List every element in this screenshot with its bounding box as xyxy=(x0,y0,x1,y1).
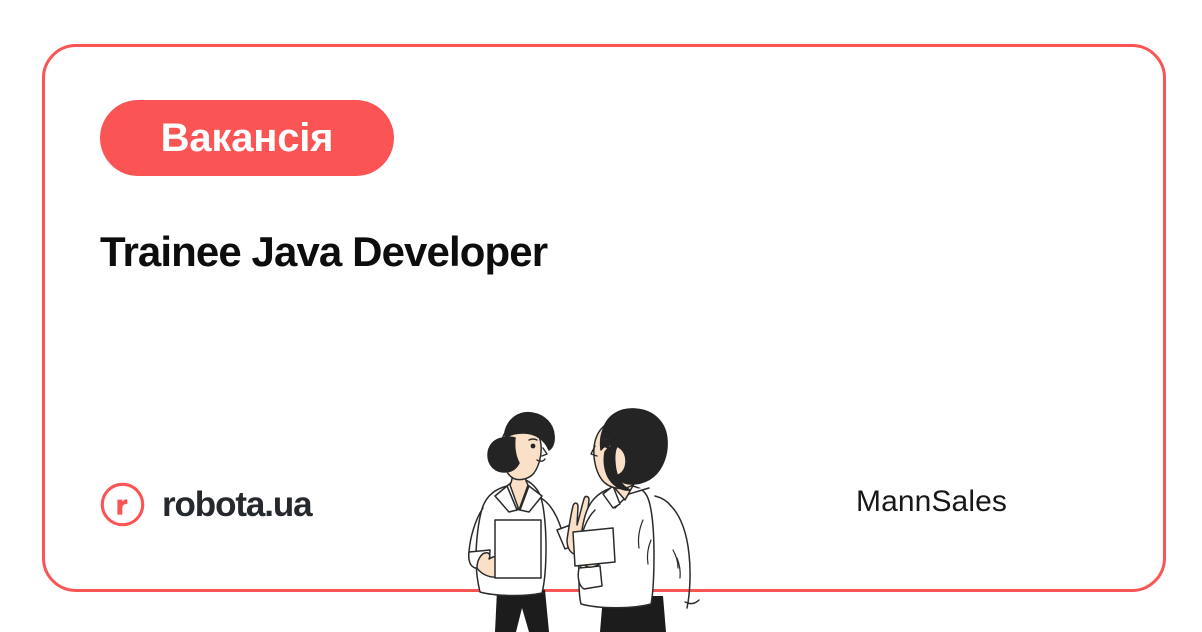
vacancy-card-page: Вакансія Trainee Java Developer robota.u… xyxy=(0,0,1202,632)
robota-ua-wordmark: robota.ua xyxy=(162,487,312,522)
robota-ua-logo[interactable]: robota.ua xyxy=(100,481,312,527)
job-title: Trainee Java Developer xyxy=(100,228,1060,276)
company-name: MannSales xyxy=(856,487,1007,517)
robota-r-mark-icon xyxy=(100,482,145,527)
vacancy-badge: Вакансія xyxy=(100,100,394,176)
vacancy-badge-label: Вакансія xyxy=(161,118,334,158)
